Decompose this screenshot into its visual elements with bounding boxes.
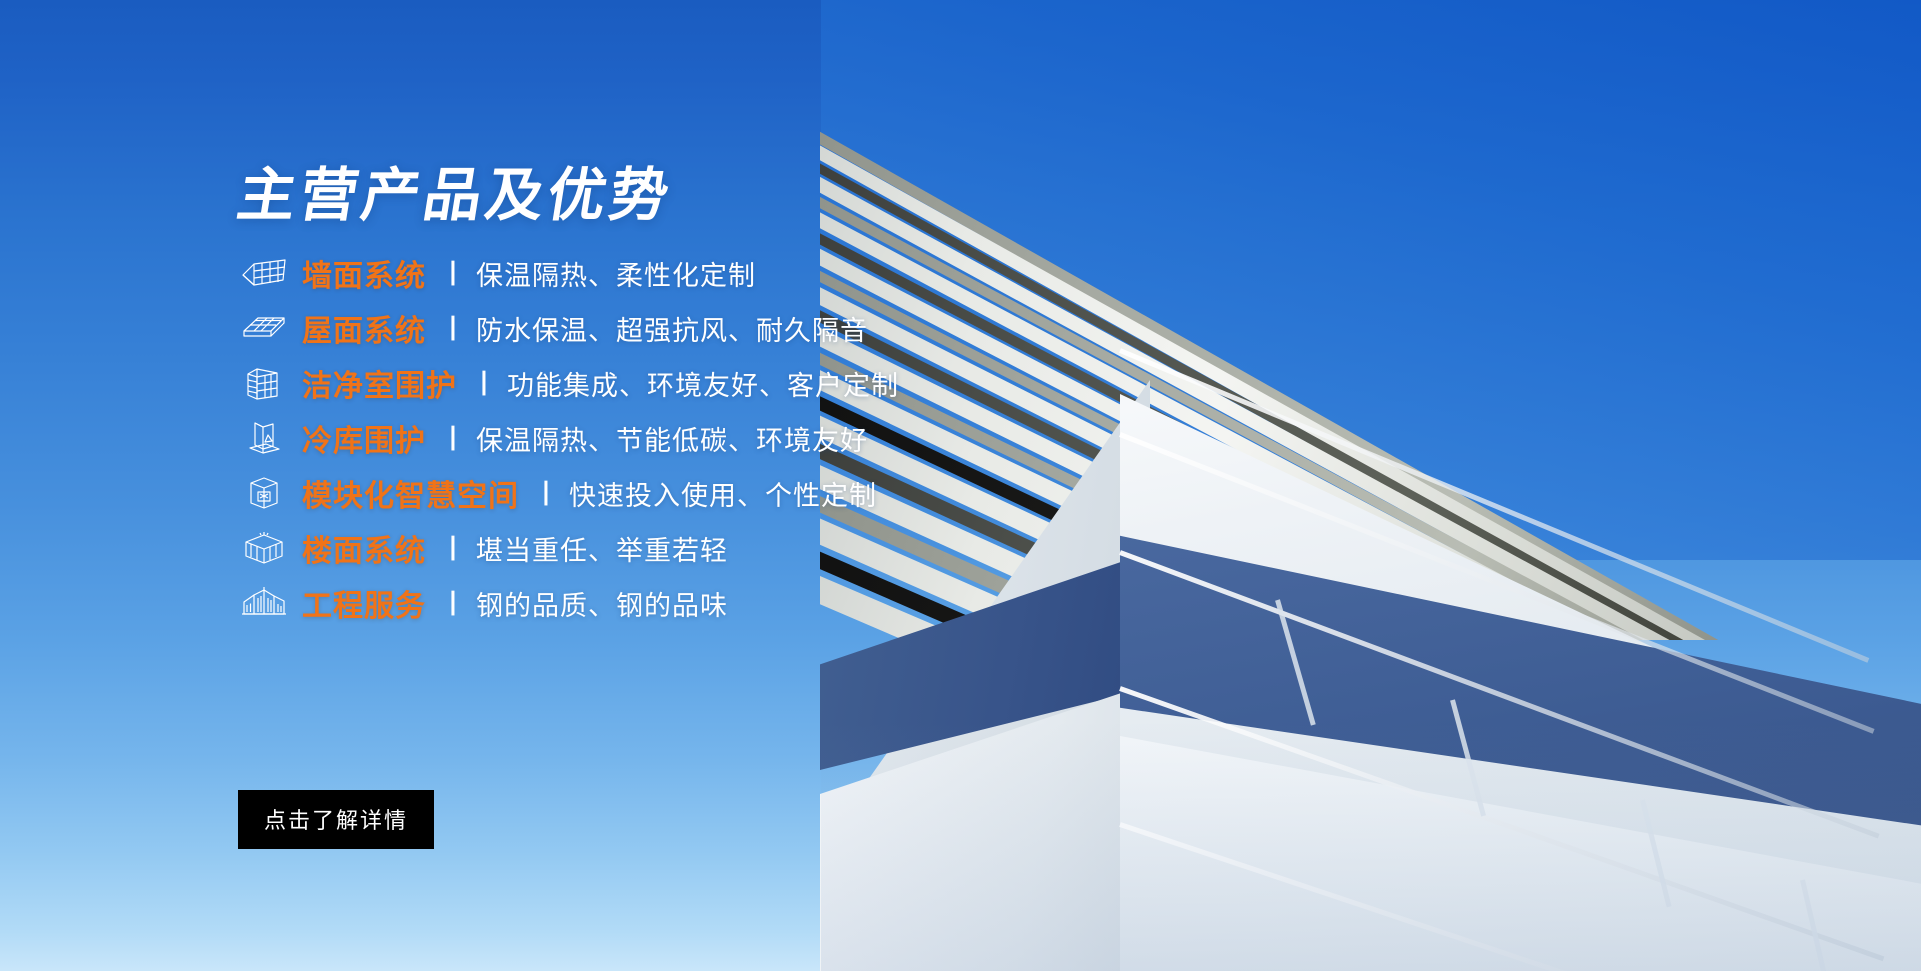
product-row[interactable]: 屋面系统丨防水保温、超强抗风、耐久隔音 <box>238 301 1218 355</box>
cleanroom-building-wireframe-icon <box>238 361 290 405</box>
promo-banner: 主营产品及优势 墙面系统丨保温隔热、柔性化定制 屋面系统丨防水保温、超强抗风、耐… <box>0 0 1921 971</box>
page-title: 主营产品及优势 <box>233 166 676 224</box>
product-title: 模块化智慧空间 <box>302 471 519 515</box>
product-description: 保温隔热、节能低碳、环境友好 <box>476 419 868 458</box>
product-row[interactable]: 洁净室围护丨功能集成、环境友好、客户定制 <box>238 356 1218 410</box>
product-title: 屋面系统 <box>302 306 426 350</box>
product-description: 堪当重任、举重若轻 <box>476 529 728 568</box>
product-title: 墙面系统 <box>302 251 426 295</box>
product-title: 工程服务 <box>302 581 426 625</box>
product-separator: 丨 <box>471 364 497 401</box>
product-separator: 丨 <box>440 419 466 456</box>
product-description: 快速投入使用、个性定制 <box>569 474 877 513</box>
product-separator: 丨 <box>440 529 466 566</box>
product-list: 墙面系统丨保温隔热、柔性化定制 屋面系统丨防水保温、超强抗风、耐久隔音 洁净室围… <box>238 246 1218 631</box>
product-row[interactable]: 墙面系统丨保温隔热、柔性化定制 <box>238 246 1218 300</box>
wall-panel-wireframe-icon <box>238 251 290 295</box>
product-description: 功能集成、环境友好、客户定制 <box>507 364 899 403</box>
product-description: 保温隔热、柔性化定制 <box>476 254 756 293</box>
product-row[interactable]: 楼面系统丨堪当重任、举重若轻 <box>238 521 1218 575</box>
product-description: 防水保温、超强抗风、耐久隔音 <box>476 309 868 348</box>
product-separator: 丨 <box>440 309 466 346</box>
facade-right-blue <box>1120 510 1921 940</box>
facade-downpipe <box>1450 699 1486 816</box>
product-title: 冷库围护 <box>302 416 426 460</box>
facade-right-white <box>1120 320 1921 971</box>
product-row[interactable]: 冷库围护丨保温隔热、节能低碳、环境友好 <box>238 411 1218 465</box>
product-separator: 丨 <box>533 474 559 511</box>
product-title: 洁净室围护 <box>302 361 457 405</box>
banner-content: 主营产品及优势 墙面系统丨保温隔热、柔性化定制 屋面系统丨防水保温、超强抗风、耐… <box>238 0 1238 971</box>
facade-downpipe <box>1640 799 1671 907</box>
modular-smart-space-cube-icon <box>238 471 290 515</box>
facade-downpipe <box>1275 599 1316 725</box>
product-title: 楼面系统 <box>302 526 426 570</box>
product-description: 钢的品质、钢的品味 <box>476 584 728 623</box>
floor-deck-wireframe-icon <box>238 526 290 570</box>
cold-storage-wireframe-icon <box>238 416 290 460</box>
roof-panel-wireframe-icon <box>238 306 290 350</box>
facade-right-lower <box>1120 700 1921 971</box>
engineering-service-building-icon <box>238 581 290 625</box>
facade-downpipe <box>1800 879 1826 971</box>
product-row[interactable]: 工程服务丨钢的品质、钢的品味 <box>238 576 1218 630</box>
learn-more-button[interactable]: 点击了解详情 <box>238 790 434 849</box>
product-row[interactable]: 模块化智慧空间丨快速投入使用、个性定制 <box>238 466 1218 520</box>
product-separator: 丨 <box>440 254 466 291</box>
product-separator: 丨 <box>440 584 466 621</box>
